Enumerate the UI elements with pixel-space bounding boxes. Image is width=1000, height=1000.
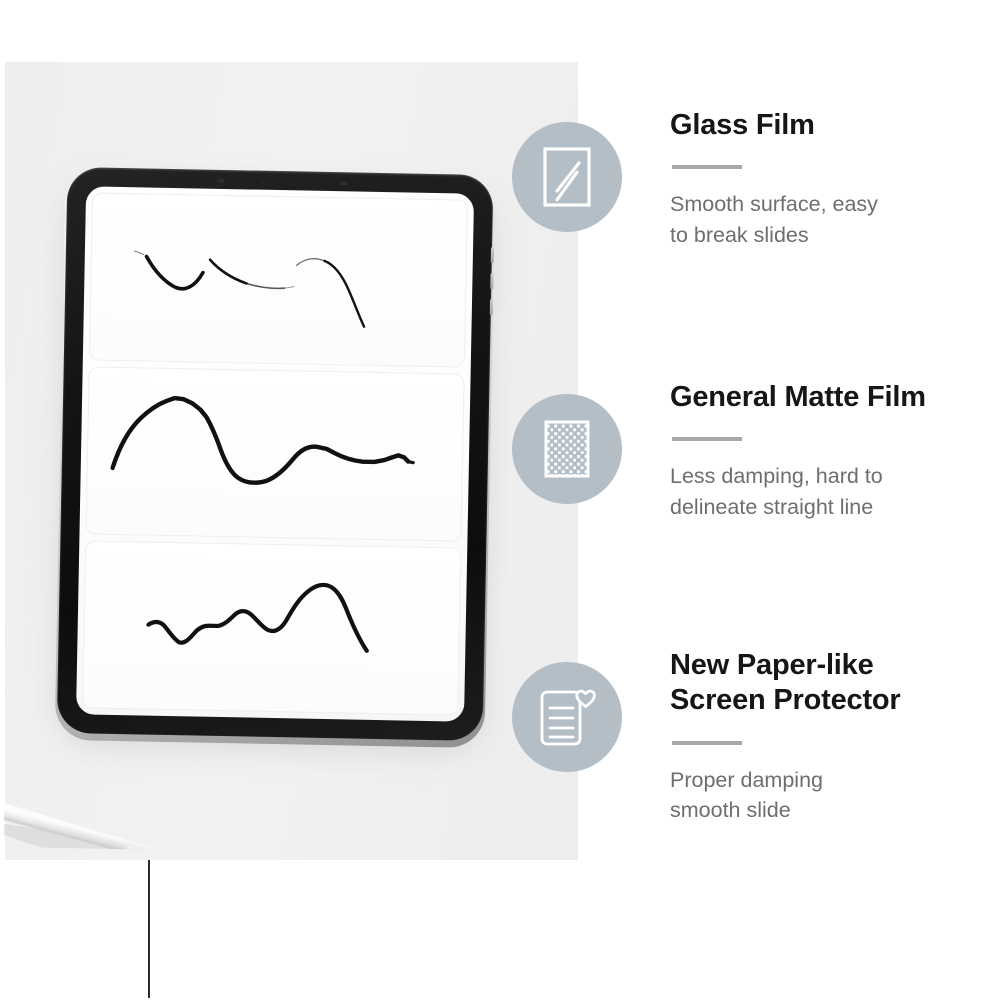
feature-description: Smooth surface, easy to break slides bbox=[670, 189, 878, 250]
feature-item-paper-like-screen-protector[interactable]: New Paper-like Screen Protector Proper d… bbox=[512, 644, 990, 826]
infographic-canvas: Glass Film Smooth surface, easy to break… bbox=[0, 0, 1000, 1000]
paper-note-heart-icon-badge bbox=[512, 662, 622, 772]
feature-text-block: General Matte Film Less damping, hard to… bbox=[670, 376, 926, 522]
smooth-wave-drawing bbox=[83, 541, 460, 714]
feature-text-block: Glass Film Smooth surface, easy to break… bbox=[670, 104, 878, 250]
matte-film-icon-badge bbox=[512, 394, 622, 504]
sensor-dot-icon bbox=[340, 181, 347, 185]
side-button[interactable] bbox=[490, 299, 493, 315]
feature-divider bbox=[672, 741, 742, 745]
feature-divider bbox=[672, 165, 742, 169]
feature-description: Proper damping smooth slide bbox=[670, 765, 901, 826]
glass-film-icon-badge bbox=[512, 122, 622, 232]
front-camera-sensor-strip bbox=[217, 178, 347, 186]
volume-down-button[interactable] bbox=[490, 273, 493, 289]
feature-description: Less damping, hard to delineate straight… bbox=[670, 461, 926, 522]
sensor-dot-icon bbox=[261, 180, 264, 183]
paper-like-stroke-panel[interactable] bbox=[82, 540, 461, 715]
feature-divider bbox=[672, 437, 742, 441]
feature-title: Glass Film bbox=[670, 108, 878, 143]
feature-text-block: New Paper-like Screen Protector Proper d… bbox=[670, 644, 901, 826]
volume-up-button[interactable] bbox=[491, 247, 494, 263]
matte-film-icon bbox=[538, 416, 596, 482]
feature-title: General Matte Film bbox=[670, 380, 926, 415]
feature-item-general-matte-film[interactable]: General Matte Film Less damping, hard to… bbox=[512, 376, 990, 522]
tablet-screen[interactable] bbox=[76, 186, 474, 721]
jagged-wave-drawing bbox=[86, 367, 463, 540]
tablet-bezel bbox=[57, 167, 494, 741]
feature-list: Glass Film Smooth surface, easy to break… bbox=[512, 76, 990, 896]
backdrop-seam-line bbox=[148, 860, 150, 998]
glass-film-stroke-panel[interactable] bbox=[89, 192, 468, 367]
broken-stroke-drawing bbox=[90, 193, 467, 366]
tablet-device bbox=[51, 164, 498, 750]
feature-item-glass-film[interactable]: Glass Film Smooth surface, easy to break… bbox=[512, 104, 990, 250]
paper-note-heart-icon bbox=[536, 684, 598, 750]
matte-film-stroke-panel[interactable] bbox=[85, 366, 464, 541]
feature-title: New Paper-like Screen Protector bbox=[670, 648, 901, 719]
glass-film-icon bbox=[538, 144, 596, 210]
sensor-dot-icon bbox=[217, 179, 224, 183]
camera-lens-icon bbox=[301, 181, 304, 184]
